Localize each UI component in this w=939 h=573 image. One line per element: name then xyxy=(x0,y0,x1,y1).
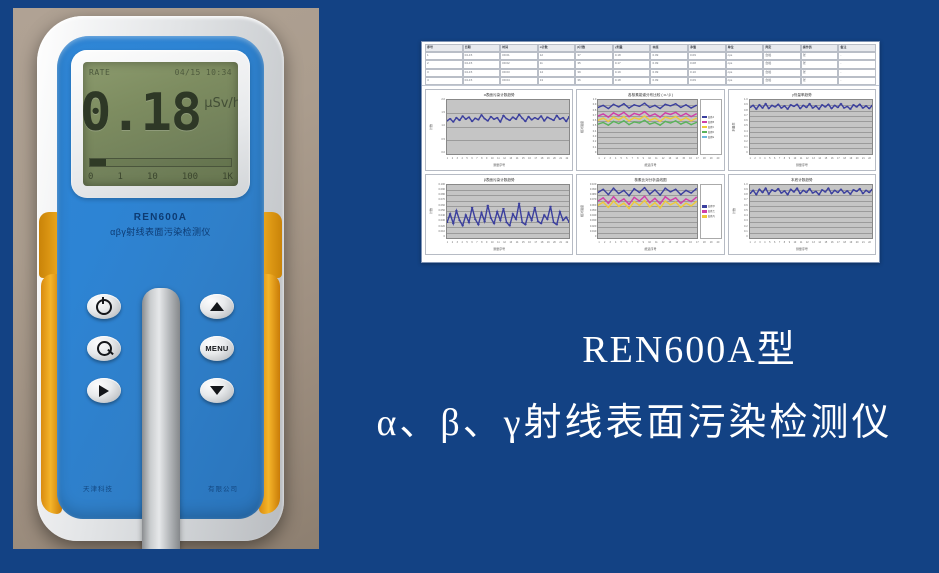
chart-data-point xyxy=(505,118,508,119)
sheet-cell: 0.18 xyxy=(613,52,651,60)
chart-data-point xyxy=(670,118,672,119)
chart-data-point xyxy=(649,202,651,203)
legend-item: 核素D xyxy=(702,130,720,134)
chart-data-point xyxy=(842,107,845,108)
chart-x-tick: 16 xyxy=(831,241,834,244)
chart-y-tick: 0.080 xyxy=(439,194,446,197)
sheet-cell: - xyxy=(838,77,876,85)
chart-x-axis-label: 能道序号 xyxy=(579,162,721,168)
sheet-header-cell: 操作员 xyxy=(801,44,839,52)
chart-card: 各核素能谱分布比较 ( α / β )相对强度1.00.90.80.70.60.… xyxy=(576,89,724,171)
chart-y-tick: 0.050 xyxy=(590,210,597,213)
chart-data-point xyxy=(518,114,521,115)
lcd-datetime: 04/15 10:34 xyxy=(175,68,232,77)
chart-x-tick: 19 xyxy=(710,241,713,244)
chart-data-point xyxy=(830,108,833,109)
chart-data-point xyxy=(654,105,656,106)
chart-x-tick: 8 xyxy=(784,157,785,160)
chart-data-point xyxy=(483,118,486,119)
chart-data-point xyxy=(761,107,764,108)
sheet-cell: 09:04 xyxy=(500,77,538,85)
chart-y-tick: 0.060 xyxy=(439,205,446,208)
chart-y-tick: 0.5 xyxy=(744,125,748,128)
chart-y-tick: 0.020 xyxy=(590,226,597,229)
chart-data-point xyxy=(524,121,527,122)
lcd-unit: μSv/h xyxy=(204,96,238,111)
chart-x-tick: 21 xyxy=(862,241,865,244)
chart-x-tick: 6 xyxy=(471,157,472,160)
chart-data-point xyxy=(659,125,661,126)
chart-data-point xyxy=(486,204,489,205)
chart-data-point xyxy=(852,189,855,190)
chart-data-point xyxy=(521,221,524,222)
chart-data-point xyxy=(623,189,625,190)
chart-y-tick: 1.5 xyxy=(441,112,445,115)
chart-data-point xyxy=(512,213,515,214)
chart-data-point xyxy=(633,117,635,118)
chart-data-point xyxy=(505,221,508,222)
chart-data-point xyxy=(455,117,458,118)
chart-data-point xyxy=(690,120,692,121)
chart-data-point xyxy=(814,105,817,106)
chart-data-point xyxy=(474,118,477,119)
chart-data-point xyxy=(811,107,814,108)
chart-data-point xyxy=(633,196,635,197)
legend-swatch xyxy=(702,210,707,213)
chart-data-point xyxy=(690,124,692,125)
sheet-cell: cps xyxy=(726,77,764,85)
chart-data-point xyxy=(685,121,687,122)
chart-x-tick: 22 xyxy=(566,157,569,160)
chart-data-point xyxy=(618,115,620,116)
chart-data-point xyxy=(515,218,518,219)
chart-data-point xyxy=(530,219,533,220)
sheet-cell: 张 xyxy=(801,60,839,68)
chart-x-tick: 19 xyxy=(850,241,853,244)
chart-x-tick: 17 xyxy=(837,241,840,244)
power-icon xyxy=(96,299,112,315)
sheet-header-cell: 单位 xyxy=(726,44,764,52)
menu-button[interactable]: MENU xyxy=(200,336,234,361)
chart-x-tick: 8 xyxy=(637,157,638,160)
chart-data-point xyxy=(639,191,641,192)
chart-x-tick: 3 xyxy=(759,241,760,244)
chart-title: 各核素能谱分布比较 ( α / β ) xyxy=(579,92,721,99)
device-grip-right-upper xyxy=(261,212,282,278)
sheet-header-cell: 判定 xyxy=(763,44,801,52)
chart-y-tick: 0.080 xyxy=(590,194,597,197)
legend-label: 核素乙 xyxy=(708,209,715,213)
chart-data-point xyxy=(644,120,646,121)
legend-label: 核素E xyxy=(708,135,714,139)
chart-y-axis-label-text: 剂量率 xyxy=(732,122,736,131)
chart-y-tick: 0.2 xyxy=(744,141,748,144)
chart-y-tick: 0.9 xyxy=(744,189,748,192)
chart-data-point xyxy=(613,117,615,118)
chart-data-point xyxy=(761,191,764,192)
chart-data-point xyxy=(623,120,625,121)
chart-card: γ剂量率趋势剂量率1.00.90.80.70.60.50.40.30.20.10… xyxy=(728,89,876,171)
chart-body: 剂量率1.00.90.80.70.60.50.40.30.20.10 xyxy=(731,99,873,155)
chart-data-point xyxy=(552,120,555,121)
chart-x-tick: 14 xyxy=(516,157,519,160)
chart-data-point xyxy=(827,187,830,188)
sheet-cell: 09:01 xyxy=(500,52,538,60)
sheet-header-cell: 净值 xyxy=(688,44,726,52)
chart-data-point xyxy=(690,200,692,201)
chart-x-tick: 18 xyxy=(843,241,846,244)
chart-data-point xyxy=(649,123,651,124)
chart-x-tick: 2 xyxy=(604,241,605,244)
chart-y-axis-label-text: 相对强度 xyxy=(580,205,584,217)
sheet-cell: 39 xyxy=(575,69,613,77)
chart-x-tick: 14 xyxy=(675,157,678,160)
chart-data-point xyxy=(639,200,641,201)
chart-data-point xyxy=(858,104,861,105)
chart-data-point xyxy=(618,123,620,124)
legend-swatch xyxy=(702,121,707,124)
sheet-cell: - xyxy=(838,60,876,68)
chart-data-point xyxy=(685,198,687,199)
sheet-cell: 1 xyxy=(425,52,463,60)
chart-y-tick: 0.7 xyxy=(593,115,597,118)
chart-data-point xyxy=(565,216,568,217)
chart-data-point xyxy=(608,125,610,126)
chart-data-point xyxy=(447,221,448,222)
play-button[interactable] xyxy=(87,378,121,403)
chart-gridline xyxy=(750,154,872,155)
sheet-cell: 4 xyxy=(425,77,463,85)
chart-data-point xyxy=(559,119,562,120)
chart-data-point xyxy=(680,202,682,203)
chart-y-axis-label-text: 计数 xyxy=(732,208,736,214)
lcd-scale-tick: 1 xyxy=(117,172,122,182)
sheet-cell: 0.17 xyxy=(613,60,651,68)
sheet-header-cell: α计数 xyxy=(538,44,576,52)
chart-data-point xyxy=(608,108,610,109)
chart-data-point xyxy=(458,219,461,220)
sheet-cell: 0.08 xyxy=(688,60,726,68)
sheet-cell: 0.19 xyxy=(613,69,651,77)
chart-data-point xyxy=(468,117,471,118)
chart-data-point xyxy=(659,194,661,195)
chart-x-tick: 2 xyxy=(754,241,755,244)
chart-data-point xyxy=(758,104,761,105)
chart-data-point xyxy=(675,103,677,104)
chart-data-point xyxy=(618,106,620,107)
chart-x-tick: 18 xyxy=(843,157,846,160)
power-button[interactable] xyxy=(87,294,121,319)
chart-x-tick: 7 xyxy=(476,241,477,244)
chart-title: γ剂量率趋势 xyxy=(731,92,873,99)
chart-x-tick: 3 xyxy=(457,241,458,244)
chart-data-point xyxy=(770,189,773,190)
chart-data-point xyxy=(849,109,852,110)
chart-x-tick: 14 xyxy=(516,241,519,244)
chart-y-tick: 0.3 xyxy=(593,136,597,139)
chart-x-axis-label: 测量序号 xyxy=(731,246,873,252)
chart-data-point xyxy=(602,197,604,198)
chart-data-point xyxy=(670,114,672,115)
chart-y-tick: 0.3 xyxy=(744,220,748,223)
chart-data-point xyxy=(808,188,811,189)
menu-label: MENU xyxy=(205,344,228,353)
chart-data-point xyxy=(623,103,625,104)
chart-body: 计数1.00.90.80.70.60.50.40.30.20.10 xyxy=(731,184,873,240)
chart-data-point xyxy=(836,107,839,108)
legend-item: 核素A xyxy=(702,115,720,119)
chart-x-tick: 15 xyxy=(522,157,525,160)
chart-y-tick: 0.7 xyxy=(744,199,748,202)
sheet-cell: 09:02 xyxy=(500,60,538,68)
chart-x-tick: 6 xyxy=(774,241,775,244)
chart-x-tick: 17 xyxy=(837,157,840,160)
chart-data-point xyxy=(490,217,493,218)
chart-data-point xyxy=(618,201,620,202)
chart-data-point xyxy=(639,106,641,107)
chart-data-point xyxy=(755,194,758,195)
chart-x-tick: 11 xyxy=(800,241,802,244)
chart-y-tick: 0.010 xyxy=(590,231,597,234)
chart-data-point xyxy=(680,115,682,116)
chart-x-tick: 16 xyxy=(689,157,692,160)
chart-data-point xyxy=(659,207,661,208)
chart-body: 相对强度0.1000.0900.0800.0700.0600.0500.0400… xyxy=(579,184,721,240)
chart-x-tick: 18 xyxy=(703,157,706,160)
chart-data-point xyxy=(659,117,661,118)
chart-x-tick: 13 xyxy=(812,241,815,244)
lcd-reading: 0.18 μSv/h xyxy=(87,82,234,144)
sheet-cell: - xyxy=(838,52,876,60)
chart-x-tick: 21 xyxy=(559,241,562,244)
chart-data-point xyxy=(670,199,672,200)
chart-data-point xyxy=(628,203,630,204)
chart-data-point xyxy=(685,117,687,118)
chart-data-point xyxy=(805,107,808,108)
lcd-scale-tick: 1K xyxy=(222,172,233,182)
chart-gridline xyxy=(598,238,696,239)
chart-data-point xyxy=(480,114,483,115)
chart-x-tick: 11 xyxy=(655,241,657,244)
device-model-description: αβγ射线表面污染检测仪 xyxy=(57,225,264,238)
lcd-bezel: RATE 04/15 10:34 0.18 μSv/h 01101001K xyxy=(71,50,250,198)
legend-label: 核素B xyxy=(708,120,714,124)
chart-data-point xyxy=(613,200,615,201)
chart-data-point xyxy=(649,107,651,108)
legend-item: 核素丙 xyxy=(702,214,720,218)
chart-y-tick: 0.1 xyxy=(744,147,748,150)
chart-x-tick: 19 xyxy=(710,157,713,160)
chart-x-tick: 20 xyxy=(717,157,720,160)
chart-x-tick: 6 xyxy=(626,241,627,244)
chart-x-tick: 2 xyxy=(452,157,453,160)
product-title-line2: α、β、γ射线表面污染检测仪 xyxy=(330,391,939,446)
chart-data-point xyxy=(477,119,480,120)
chart-data-point xyxy=(767,193,770,194)
chart-data-point xyxy=(665,200,667,201)
chart-data-point xyxy=(549,205,552,206)
chart-x-tick: 18 xyxy=(541,241,544,244)
sheet-cell: 3 xyxy=(425,69,463,77)
chart-x-tick: 11 xyxy=(800,157,802,160)
chart-data-point xyxy=(680,107,682,108)
chart-y-tick: 0.4 xyxy=(593,131,597,134)
chart-y-tick: 1.0 xyxy=(744,184,748,187)
chart-data-point xyxy=(802,189,805,190)
chart-x-tick: 14 xyxy=(818,157,821,160)
chart-x-tick: 12 xyxy=(662,241,665,244)
chart-data-point xyxy=(527,116,530,117)
sheet-cell: 14 xyxy=(538,69,576,77)
chart-data-point xyxy=(665,196,667,197)
chart-y-tick: 0.4 xyxy=(744,131,748,134)
chart-y-tick: 2.0 xyxy=(441,99,445,102)
sheet-cell: 04-15 xyxy=(463,77,501,85)
sheet-cell: 张 xyxy=(801,69,839,77)
chart-x-tick: 5 xyxy=(769,241,770,244)
chart-x-tick: 10 xyxy=(648,241,651,244)
lcd-scale-tick: 0 xyxy=(88,172,93,182)
chart-legend: 核素甲核素乙核素丙 xyxy=(700,184,722,240)
chart-x-tick: 1 xyxy=(749,241,750,244)
chart-x-tick: 13 xyxy=(509,241,512,244)
chart-x-tick: 9 xyxy=(486,157,487,160)
device-handle-strap xyxy=(142,288,180,549)
chart-data-point xyxy=(602,201,604,202)
chart-x-tick: 12 xyxy=(806,157,809,160)
slide-canvas: RATE 04/15 10:34 0.18 μSv/h 01101001K xyxy=(0,0,939,573)
chart-data-point xyxy=(633,200,635,201)
chart-data-point xyxy=(524,224,527,225)
chart-data-point xyxy=(846,190,849,191)
chart-card: 本底计数趋势计数1.00.90.80.70.60.50.40.30.20.101… xyxy=(728,174,876,256)
chart-y-tick: 0.5 xyxy=(593,125,597,128)
chart-data-point xyxy=(858,188,861,189)
chart-data-point xyxy=(618,205,620,206)
sheet-header-cell: γ剂量 xyxy=(613,44,651,52)
chart-data-point xyxy=(602,122,604,123)
chart-data-point xyxy=(654,118,656,119)
sheet-cell: 合格 xyxy=(763,60,801,68)
chart-data-point xyxy=(773,190,776,191)
chart-x-tick: 20 xyxy=(717,241,720,244)
chart-y-axis-label-text: 计数 xyxy=(429,124,433,130)
up-button[interactable] xyxy=(200,294,234,319)
sheet-header-cell: 备注 xyxy=(838,44,876,52)
chart-data-point xyxy=(608,194,610,195)
chart-data-point xyxy=(613,104,615,105)
sheet-cell: 37 xyxy=(575,52,613,60)
chart-x-tick: 6 xyxy=(471,241,472,244)
chart-data-point xyxy=(452,222,455,223)
legend-label: 核素丙 xyxy=(708,214,715,218)
sheet-header-cell: β计数 xyxy=(575,44,613,52)
lcd-bargraph xyxy=(89,158,232,167)
chart-y-tick: 0.070 xyxy=(439,199,446,202)
chart-data-point xyxy=(458,120,461,121)
chart-x-tick: 12 xyxy=(503,241,506,244)
chart-data-point xyxy=(795,104,798,105)
chart-x-tick: 15 xyxy=(825,241,828,244)
chart-data-point xyxy=(654,202,656,203)
chart-x-tick: 1 xyxy=(749,157,750,160)
chart-y-tick: 0.6 xyxy=(593,120,597,123)
chart-data-point xyxy=(508,120,511,121)
chart-body: 计数0.1000.0900.0800.0700.0600.0500.0400.0… xyxy=(428,184,570,240)
chart-data-point xyxy=(559,211,562,212)
chart-data-point xyxy=(644,195,646,196)
title-block: REN600A型 α、β、γ射线表面污染检测仪 xyxy=(330,318,939,446)
chart-x-tick: 4 xyxy=(764,241,765,244)
chart-data-point xyxy=(820,189,823,190)
chart-y-tick: 0.090 xyxy=(590,189,597,192)
chart-data-point xyxy=(855,190,858,191)
chart-card: α表面污染计数趋势计数2.01.51.00.50.012345678910111… xyxy=(425,89,573,171)
chart-x-tick: 20 xyxy=(856,157,859,160)
chart-x-tick: 16 xyxy=(831,157,834,160)
chart-x-ticks: 12345678910111213141516171819202122 xyxy=(428,239,570,246)
chart-data-point xyxy=(628,124,630,125)
chart-data-point xyxy=(780,107,783,108)
chart-data-point xyxy=(608,121,610,122)
chart-data-point xyxy=(799,192,802,193)
chart-data-point xyxy=(849,193,852,194)
lcd-display: RATE 04/15 10:34 0.18 μSv/h 01101001K xyxy=(83,62,238,186)
chart-y-tick: 0.020 xyxy=(439,226,446,229)
sheet-cell: - xyxy=(838,69,876,77)
chart-data-point xyxy=(665,121,667,122)
chart-data-point xyxy=(602,105,604,106)
chart-x-tick: 19 xyxy=(547,157,550,160)
chart-x-tick: 9 xyxy=(643,157,644,160)
sheet-cell: 0.18 xyxy=(613,77,651,85)
chart-x-ticks: 1234567891011121314151617181920 xyxy=(579,155,721,162)
chart-x-axis-label: 测量序号 xyxy=(428,162,570,168)
chart-data-point xyxy=(502,115,505,116)
chart-data-point xyxy=(820,104,823,105)
chart-y-tick: 0.100 xyxy=(439,184,446,187)
chart-data-point xyxy=(690,116,692,117)
chart-data-point xyxy=(496,211,499,212)
chart-data-point xyxy=(527,212,530,213)
chart-data-point xyxy=(649,115,651,116)
lcd-value: 0.18 xyxy=(83,87,201,139)
chart-data-point xyxy=(649,193,651,194)
sheet-cell: 0.09 xyxy=(688,52,726,60)
down-button[interactable] xyxy=(200,378,234,403)
chart-x-tick: 16 xyxy=(528,157,531,160)
chart-x-tick: 4 xyxy=(615,241,616,244)
chart-x-tick: 5 xyxy=(466,241,467,244)
search-button[interactable] xyxy=(87,336,121,361)
chart-data-point xyxy=(665,187,667,188)
lcd-scale-labels: 01101001K xyxy=(88,170,233,184)
chart-data-point xyxy=(508,225,511,226)
chart-data-point xyxy=(802,105,805,106)
legend-swatch xyxy=(702,116,707,119)
chart-x-tick: 4 xyxy=(462,241,463,244)
chart-data-point xyxy=(864,105,867,106)
chart-y-tick: 0.9 xyxy=(593,104,597,107)
chart-x-tick: 10 xyxy=(648,157,651,160)
chart-data-point xyxy=(670,204,672,205)
analysis-report-panel: 序号日期时间α计数β计数γ剂量本底净值单位判定操作员备注104-1509:011… xyxy=(421,41,880,263)
chart-x-tick: 19 xyxy=(850,157,853,160)
chart-y-tick: 0.8 xyxy=(593,110,597,113)
charts-grid: α表面污染计数趋势计数2.01.51.00.50.012345678910111… xyxy=(422,86,879,258)
chart-data-point xyxy=(789,188,792,189)
chart-y-tick: 0.6 xyxy=(744,120,748,123)
